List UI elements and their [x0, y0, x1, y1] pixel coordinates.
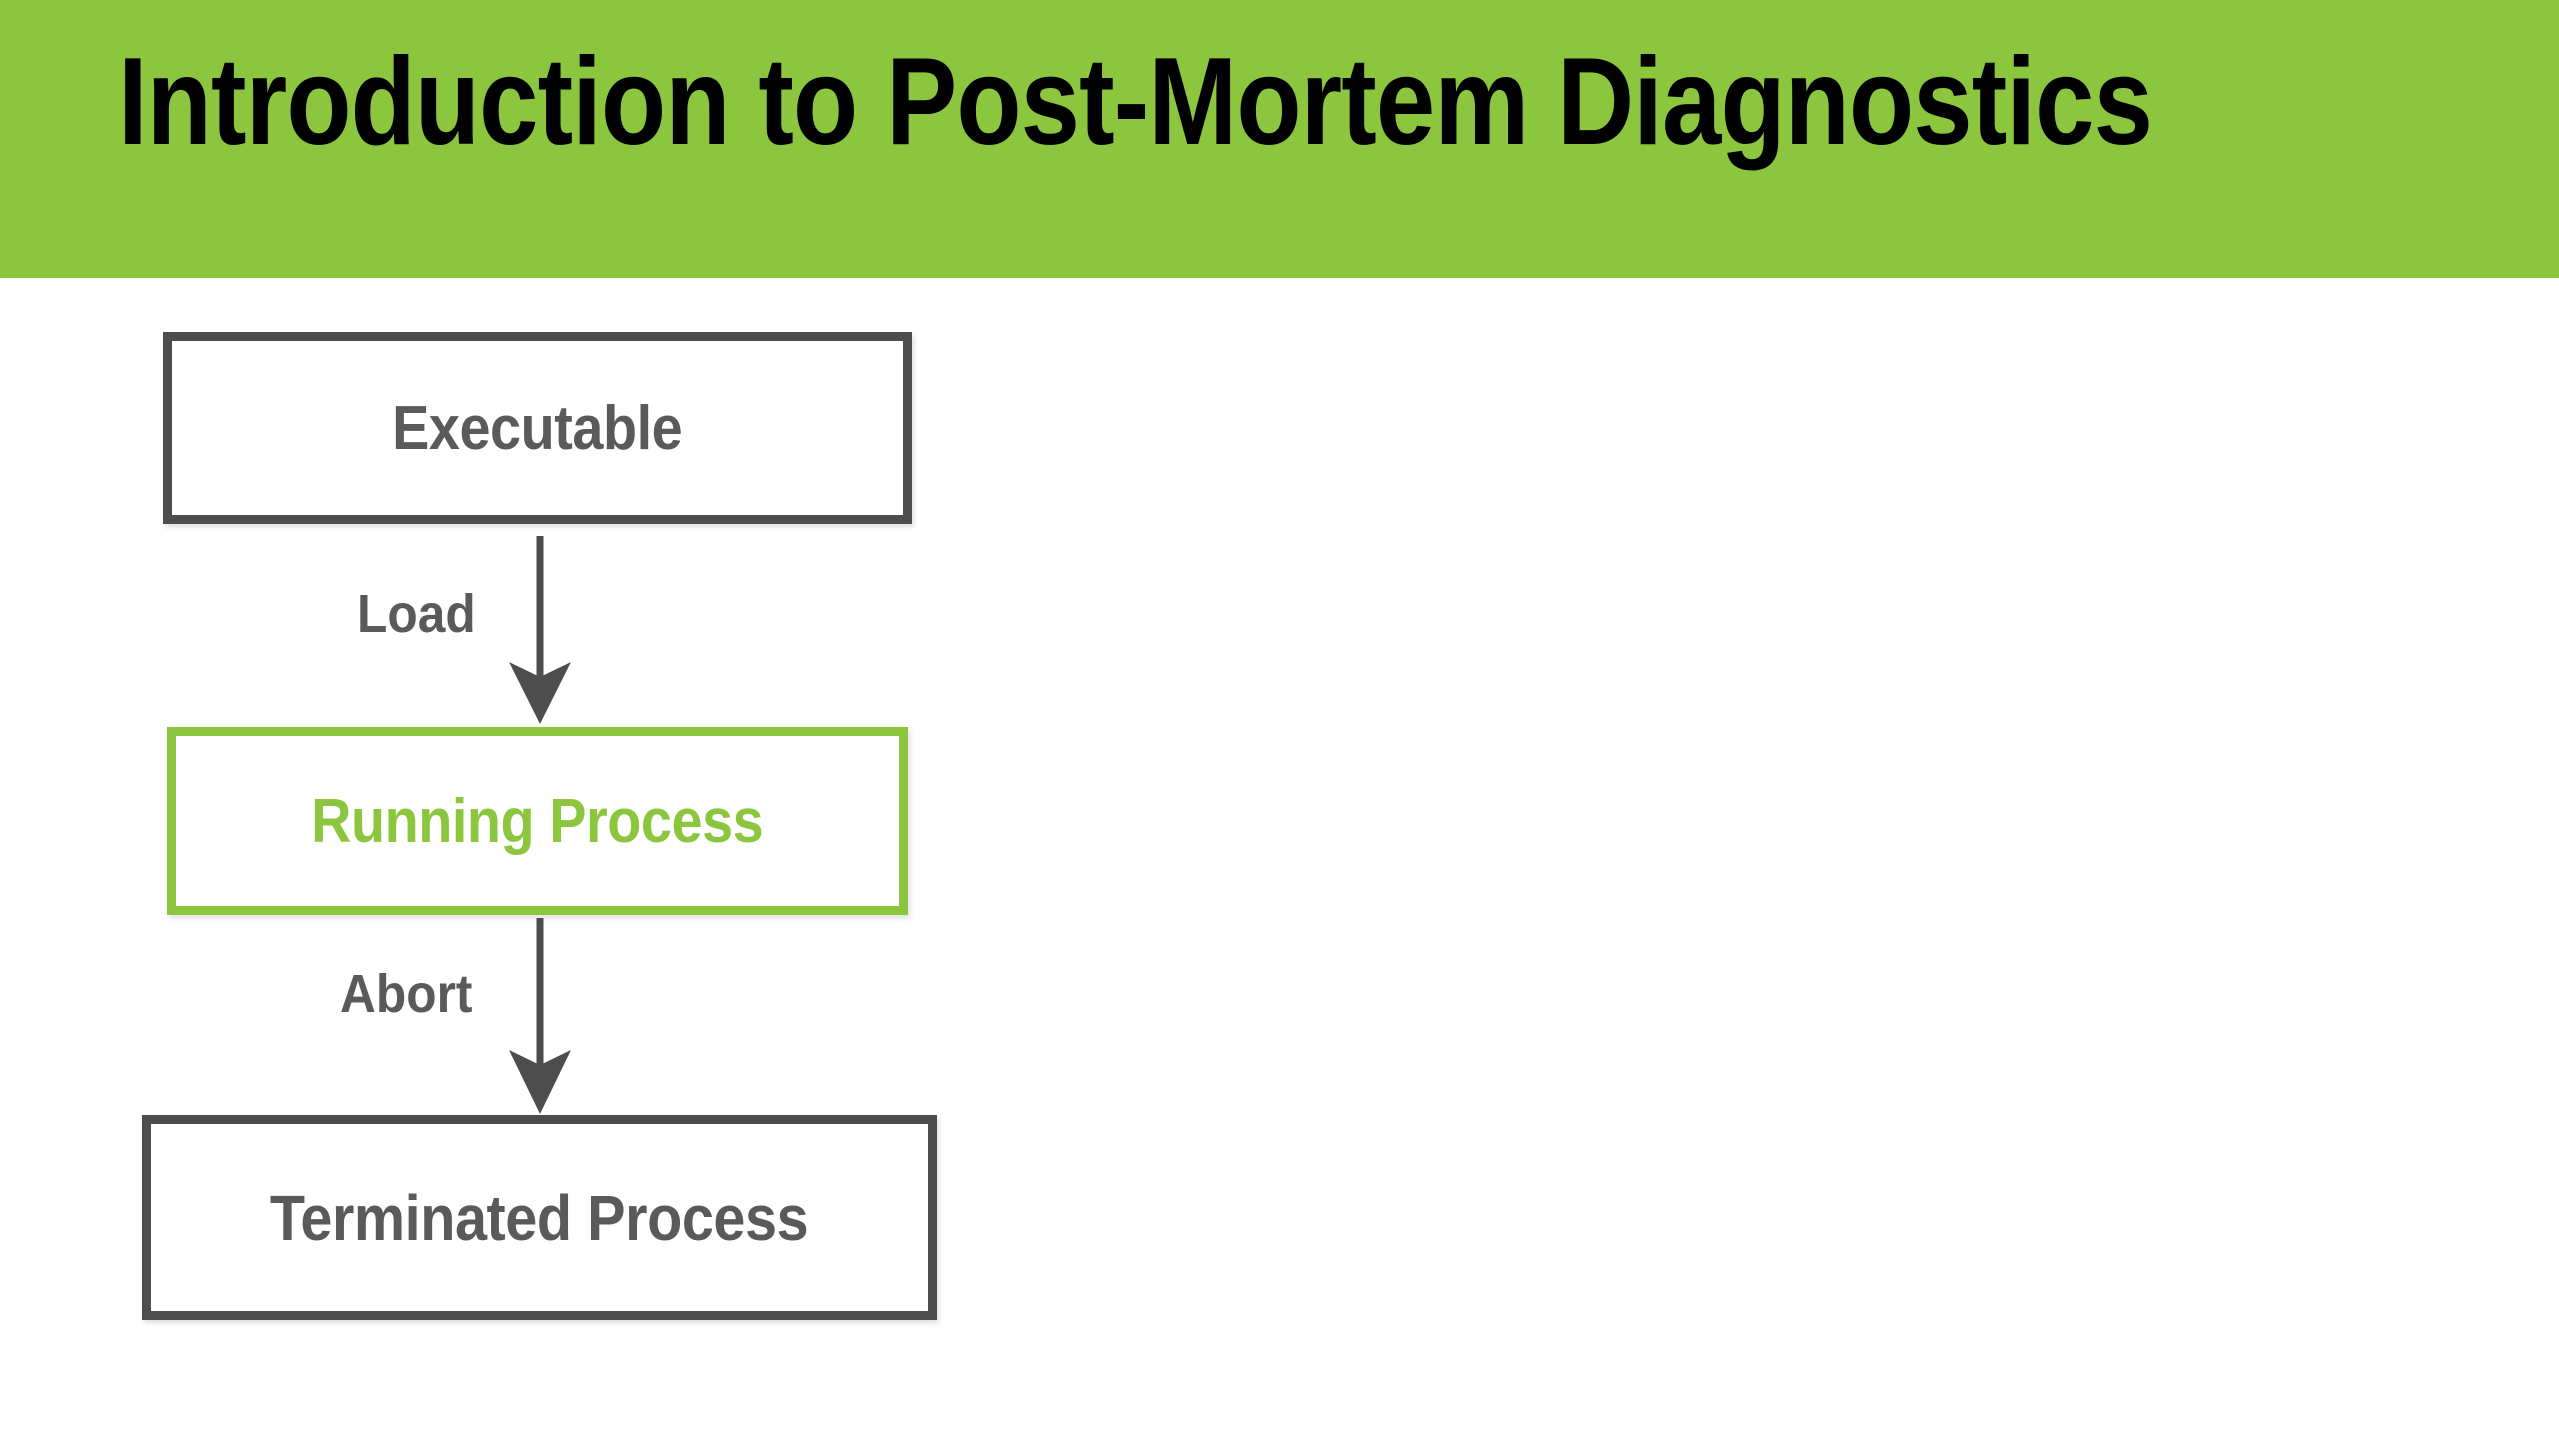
page-title: Introduction to Post-Mortem Diagnostics	[118, 30, 2152, 175]
edge-label-abort: Abort	[340, 963, 472, 1025]
arrow-down-glyph	[507, 918, 573, 1116]
process-lifecycle-diagram: Executable Load Running Process Abort Te…	[0, 278, 2559, 1439]
edge-label-load: Load	[357, 583, 476, 645]
diagram-node-executable[interactable]: Executable	[163, 332, 912, 524]
arrow-down-icon-abort	[507, 918, 573, 1116]
arrow-down-glyph	[507, 536, 573, 726]
diagram-node-label: Terminated Process	[270, 1181, 808, 1255]
arrow-down-icon-load	[507, 536, 573, 726]
diagram-node-terminated-process[interactable]: Terminated Process	[142, 1115, 937, 1320]
title-banner: Introduction to Post-Mortem Diagnostics	[0, 0, 2559, 278]
diagram-node-label: Running Process	[311, 786, 763, 857]
diagram-node-label: Executable	[392, 393, 682, 464]
diagram-node-running-process[interactable]: Running Process	[167, 727, 908, 915]
